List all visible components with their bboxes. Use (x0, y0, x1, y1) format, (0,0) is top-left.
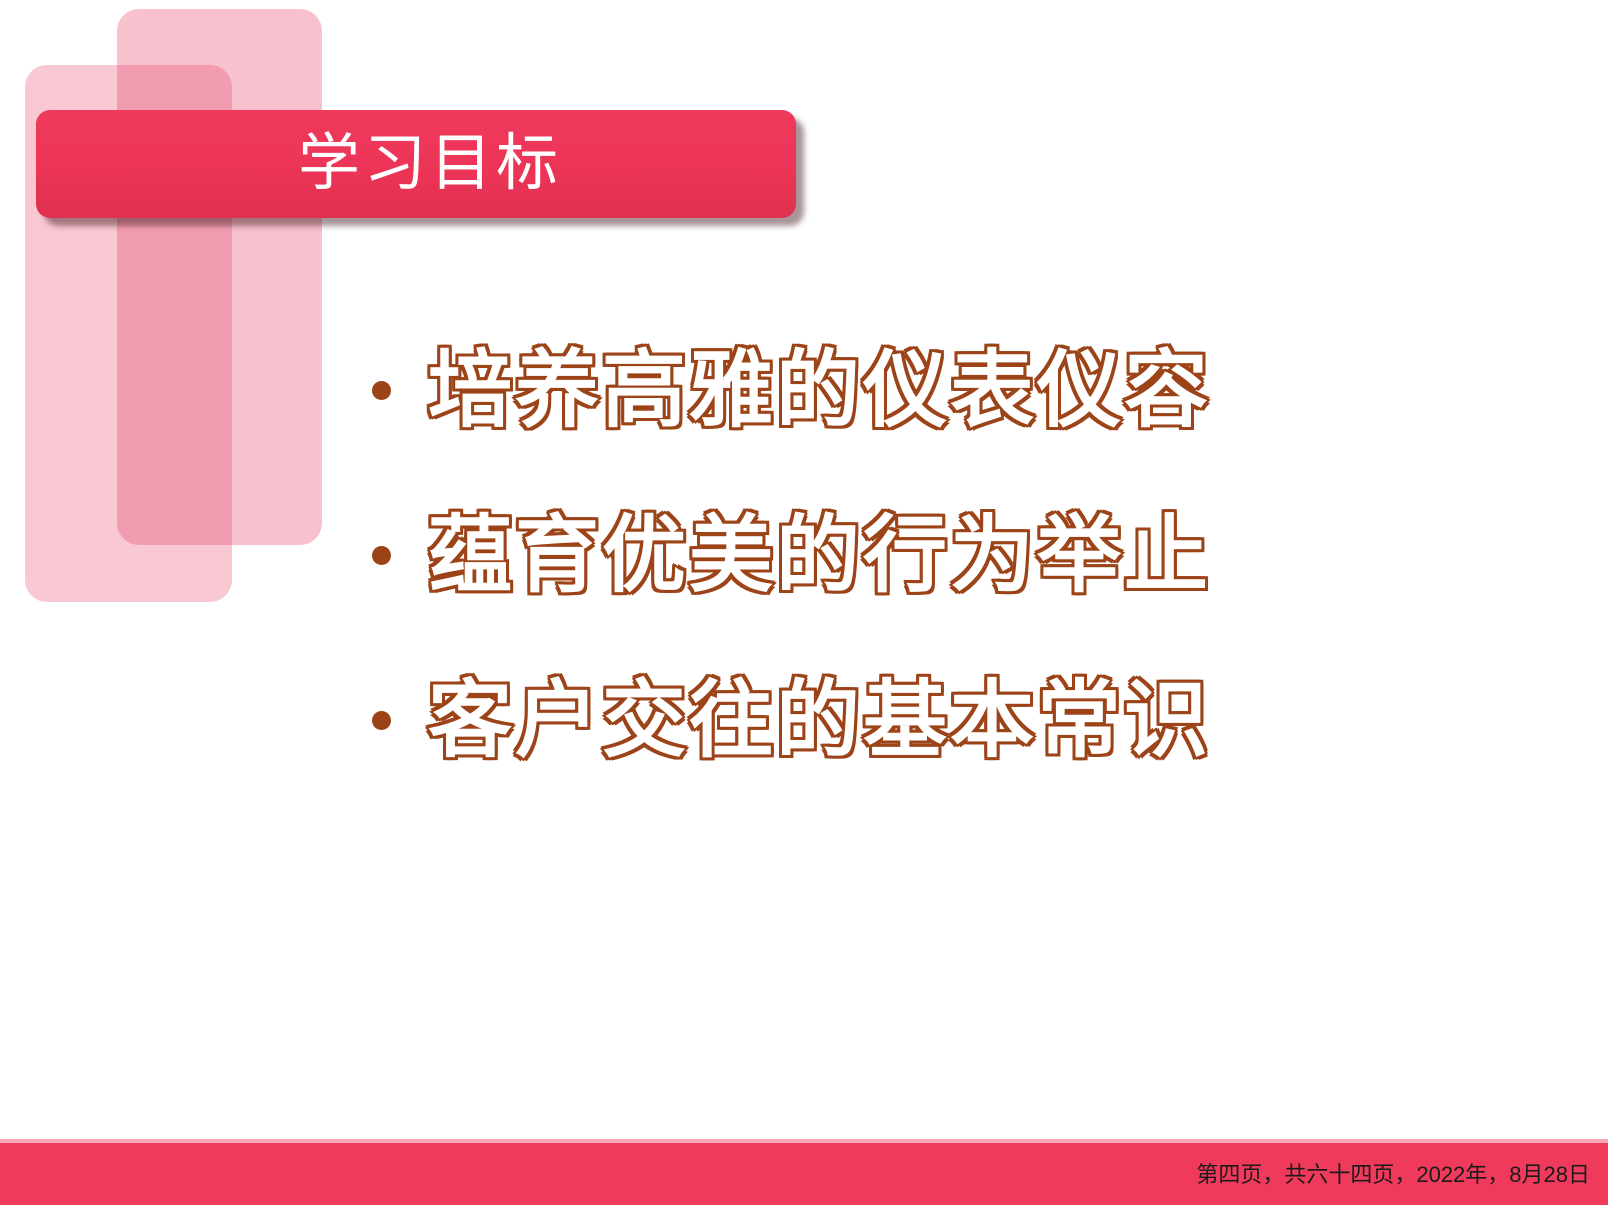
bullet-dot-icon (372, 711, 391, 730)
objectives-list: 培养高雅的仪表仪容 蕴育优美的行为举止 客户交往的基本常识 (372, 330, 1522, 825)
list-item: 蕴育优美的行为举止 (372, 495, 1522, 615)
list-item-label: 培养高雅的仪表仪容 (428, 348, 1211, 432)
list-item-label: 客户交往的基本常识 (428, 678, 1211, 762)
list-item: 客户交往的基本常识 (372, 660, 1522, 780)
title-banner: 学习目标 (36, 110, 796, 218)
bullet-dot-icon (372, 546, 391, 565)
bullet-dot-icon (372, 381, 391, 400)
footer-bar-highlight (0, 1139, 1608, 1143)
page-title: 学习目标 (298, 133, 562, 195)
footer-page-info: 第四页，共六十四页，2022年，8月28日 (1196, 1164, 1590, 1186)
list-item: 培养高雅的仪表仪容 (372, 330, 1522, 450)
slide-canvas: 学习目标 培养高雅的仪表仪容 蕴育优美的行为举止 客户交往的基本常识 第四页，共… (0, 0, 1608, 1205)
list-item-label: 蕴育优美的行为举止 (428, 513, 1211, 597)
